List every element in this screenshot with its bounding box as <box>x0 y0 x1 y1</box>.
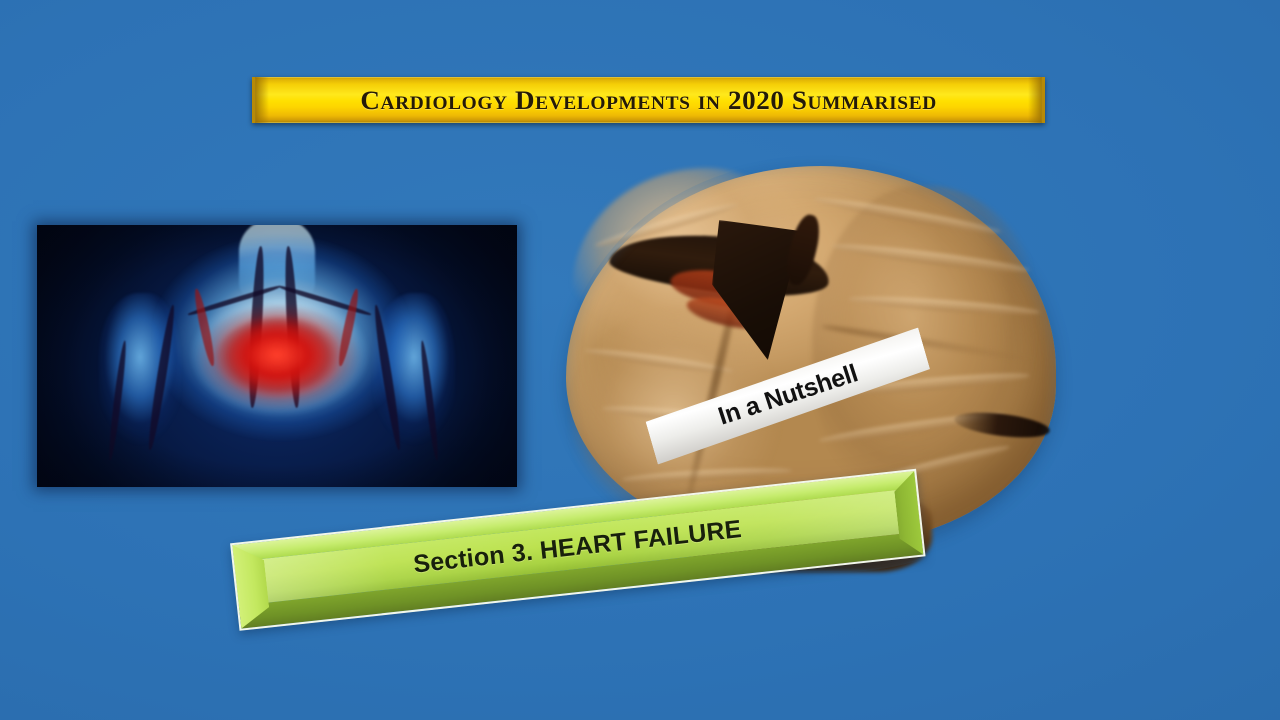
illustration-vignette <box>37 225 517 487</box>
title-banner: Cardiology Developments in 2020 Summaris… <box>252 77 1045 123</box>
heart-anatomy-illustration <box>37 225 517 487</box>
slide-canvas: Cardiology Developments in 2020 Summaris… <box>0 0 1280 720</box>
page-title: Cardiology Developments in 2020 Summaris… <box>360 85 937 116</box>
